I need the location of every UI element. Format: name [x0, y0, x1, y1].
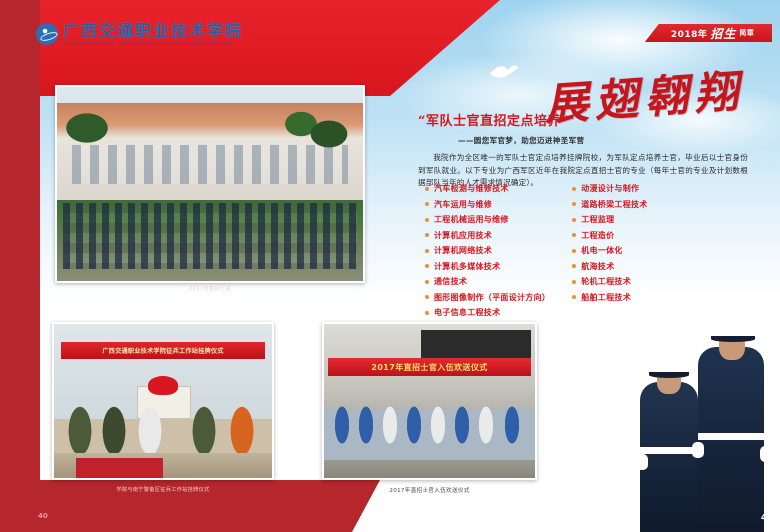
- photo-ground-layer: [324, 460, 535, 478]
- dove-icon: [488, 60, 520, 84]
- bullet-icon: [572, 233, 576, 237]
- photo-group-assembly: [55, 85, 365, 283]
- photo-bottom-left-caption: 学院与南宁警备区征兵工作站挂牌仪式: [52, 486, 274, 493]
- major-label: 计算机多媒体技术: [434, 261, 500, 272]
- badge-main-label: 招生: [710, 25, 736, 42]
- major-label: 通信技术: [434, 276, 467, 287]
- photo-bottom-right-caption: 2017年直招士官入伍欢送仪式: [322, 486, 537, 494]
- major-item: 工程监理: [572, 214, 647, 225]
- bullet-icon: [572, 295, 576, 299]
- major-label: 道路桥梁工程技术: [581, 199, 647, 210]
- page-number-right: 41: [761, 513, 772, 522]
- bullet-icon: [572, 187, 576, 191]
- college-emblem-icon: [36, 23, 58, 45]
- major-label: 动漫设计与制作: [581, 183, 639, 194]
- major-label: 机电一体化: [581, 245, 623, 256]
- majors-lists: 汽车检测与维修技术 汽车运用与维修 工程机械运用与维修 计算机应用技术 计算机网…: [425, 183, 648, 318]
- bullet-icon: [572, 218, 576, 222]
- major-label: 工程机械运用与维修: [434, 214, 509, 225]
- bullet-icon: [425, 218, 429, 222]
- article-title: “军队士官直招定点培养”: [418, 110, 748, 129]
- major-item: 航海技术: [572, 261, 647, 272]
- bullet-icon: [425, 280, 429, 284]
- major-item: 汽车检测与维修技术: [425, 183, 550, 194]
- article-block: “军队士官直招定点培养” ——圆您军官梦，助您迈进神圣军营 我院作为全区唯一的军…: [418, 110, 748, 190]
- article-subtitle: ——圆您军官梦，助您迈进神圣军营: [458, 135, 748, 146]
- major-label: 计算机网络技术: [434, 245, 492, 256]
- photo-banner-text: 2017年直招士官入伍欢送仪式: [328, 358, 531, 376]
- college-logo-text: 广西交通职业技术学院 GUANGXI VOCATIONAL AND TECHNI…: [63, 22, 243, 45]
- major-label: 工程监理: [581, 214, 614, 225]
- bullet-icon: [425, 295, 429, 299]
- honor-guard-soldiers: [620, 282, 780, 532]
- photo-people-rows-layer: [63, 203, 357, 269]
- badge-year: 2018年: [671, 27, 708, 40]
- major-item: 计算机应用技术: [425, 230, 550, 241]
- major-label: 航海技术: [581, 261, 614, 272]
- brochure-page: 广西交通职业技术学院 GUANGXI VOCATIONAL AND TECHNI…: [0, 0, 780, 532]
- bullet-icon: [425, 264, 429, 268]
- major-label: 电子信息工程技术: [434, 307, 500, 318]
- bullet-icon: [425, 311, 429, 315]
- college-name-cn: 广西交通职业技术学院: [63, 22, 243, 40]
- badge-sub-label: 简章: [739, 28, 754, 38]
- photo-enlistment-send-off: 2017年直招士官入伍欢送仪式: [322, 322, 537, 480]
- major-label: 工程造价: [581, 230, 614, 241]
- photo-carpet-layer: [76, 458, 163, 478]
- photo-recruitment-station-ceremony: 广西交通职业技术学院征兵工作站挂牌仪式: [52, 322, 274, 480]
- major-item: 动漫设计与制作: [572, 183, 647, 194]
- major-item: 工程造价: [572, 230, 647, 241]
- major-item: 汽车运用与维修: [425, 199, 550, 210]
- majors-left-column: 汽车检测与维修技术 汽车运用与维修 工程机械运用与维修 计算机应用技术 计算机网…: [425, 183, 550, 318]
- photo-people-layer: [324, 383, 535, 469]
- bullet-icon: [425, 187, 429, 191]
- bullet-icon: [425, 249, 429, 253]
- admissions-badge: 2018年 招生 简章: [645, 24, 772, 42]
- major-label: 汽车检测与维修技术: [434, 183, 509, 194]
- page-number-left: 40: [38, 512, 48, 520]
- left-red-band: [0, 0, 40, 532]
- bullet-icon: [572, 280, 576, 284]
- major-label: 计算机应用技术: [434, 230, 492, 241]
- bullet-icon: [572, 264, 576, 268]
- major-item: 工程机械运用与维修: [425, 214, 550, 225]
- bullet-icon: [425, 233, 429, 237]
- photo-banner-text: 广西交通职业技术学院征兵工作站挂牌仪式: [61, 342, 266, 359]
- bullet-icon: [572, 202, 576, 206]
- college-name-en: GUANGXI VOCATIONAL AND TECHNICAL COLLEGE…: [63, 41, 243, 45]
- bullet-icon: [572, 249, 576, 253]
- major-item: 通信技术: [425, 276, 550, 287]
- bullet-icon: [425, 202, 429, 206]
- major-item: 机电一体化: [572, 245, 647, 256]
- major-item: 图形图像制作（平面设计方向）: [425, 292, 550, 303]
- major-item: 计算机多媒体技术: [425, 261, 550, 272]
- major-item: 道路桥梁工程技术: [572, 199, 647, 210]
- major-item: 电子信息工程技术: [425, 307, 550, 318]
- photo-top-caption: 2017年直招士官: [55, 285, 365, 292]
- major-item: 计算机网络技术: [425, 245, 550, 256]
- major-label: 图形图像制作（平面设计方向）: [434, 292, 550, 303]
- college-logo: 广西交通职业技术学院 GUANGXI VOCATIONAL AND TECHNI…: [36, 22, 243, 45]
- major-label: 汽车运用与维修: [434, 199, 492, 210]
